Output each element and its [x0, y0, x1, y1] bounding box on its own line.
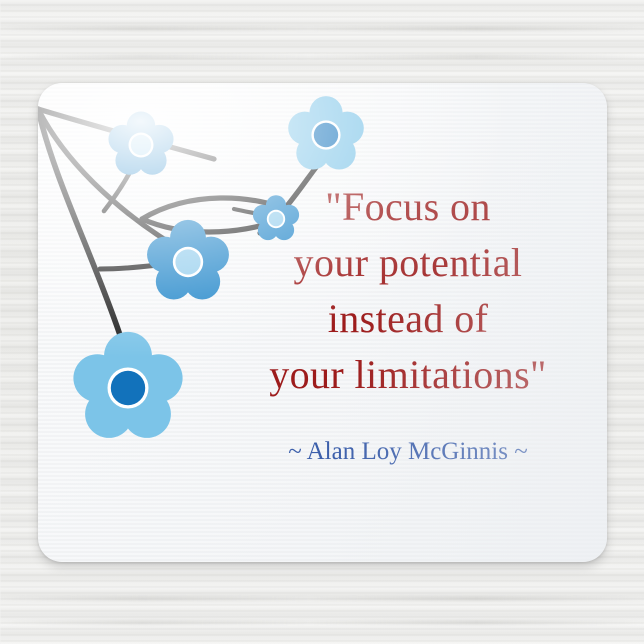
product-photo-stage: "Focus on your potential instead of your… [0, 0, 644, 644]
wood-grain-streak [0, 54, 644, 59]
flower-top-right [288, 96, 364, 169]
wood-grain-streak [0, 620, 644, 625]
wood-grain-streak [0, 26, 644, 31]
flower-top-left [108, 112, 173, 175]
quote-line-1: "Focus on [218, 179, 598, 235]
quote-block: "Focus on your potential instead of your… [218, 179, 598, 403]
flower-bottom-large [73, 332, 182, 438]
quote-line-3: instead of [218, 291, 598, 347]
quote-line-4: your limitations" [218, 347, 598, 403]
flower-center [131, 135, 151, 155]
flower-center [175, 249, 200, 274]
flower-center [111, 371, 145, 405]
quote-line-2: your potential [218, 235, 598, 291]
wood-grain-streak [0, 596, 644, 601]
flower-center [314, 123, 338, 147]
mousepad[interactable]: "Focus on your potential instead of your… [38, 83, 607, 562]
quote-attribution: ~ Alan Loy McGinnis ~ [208, 436, 607, 468]
stem-main-trunk [38, 109, 120, 335]
